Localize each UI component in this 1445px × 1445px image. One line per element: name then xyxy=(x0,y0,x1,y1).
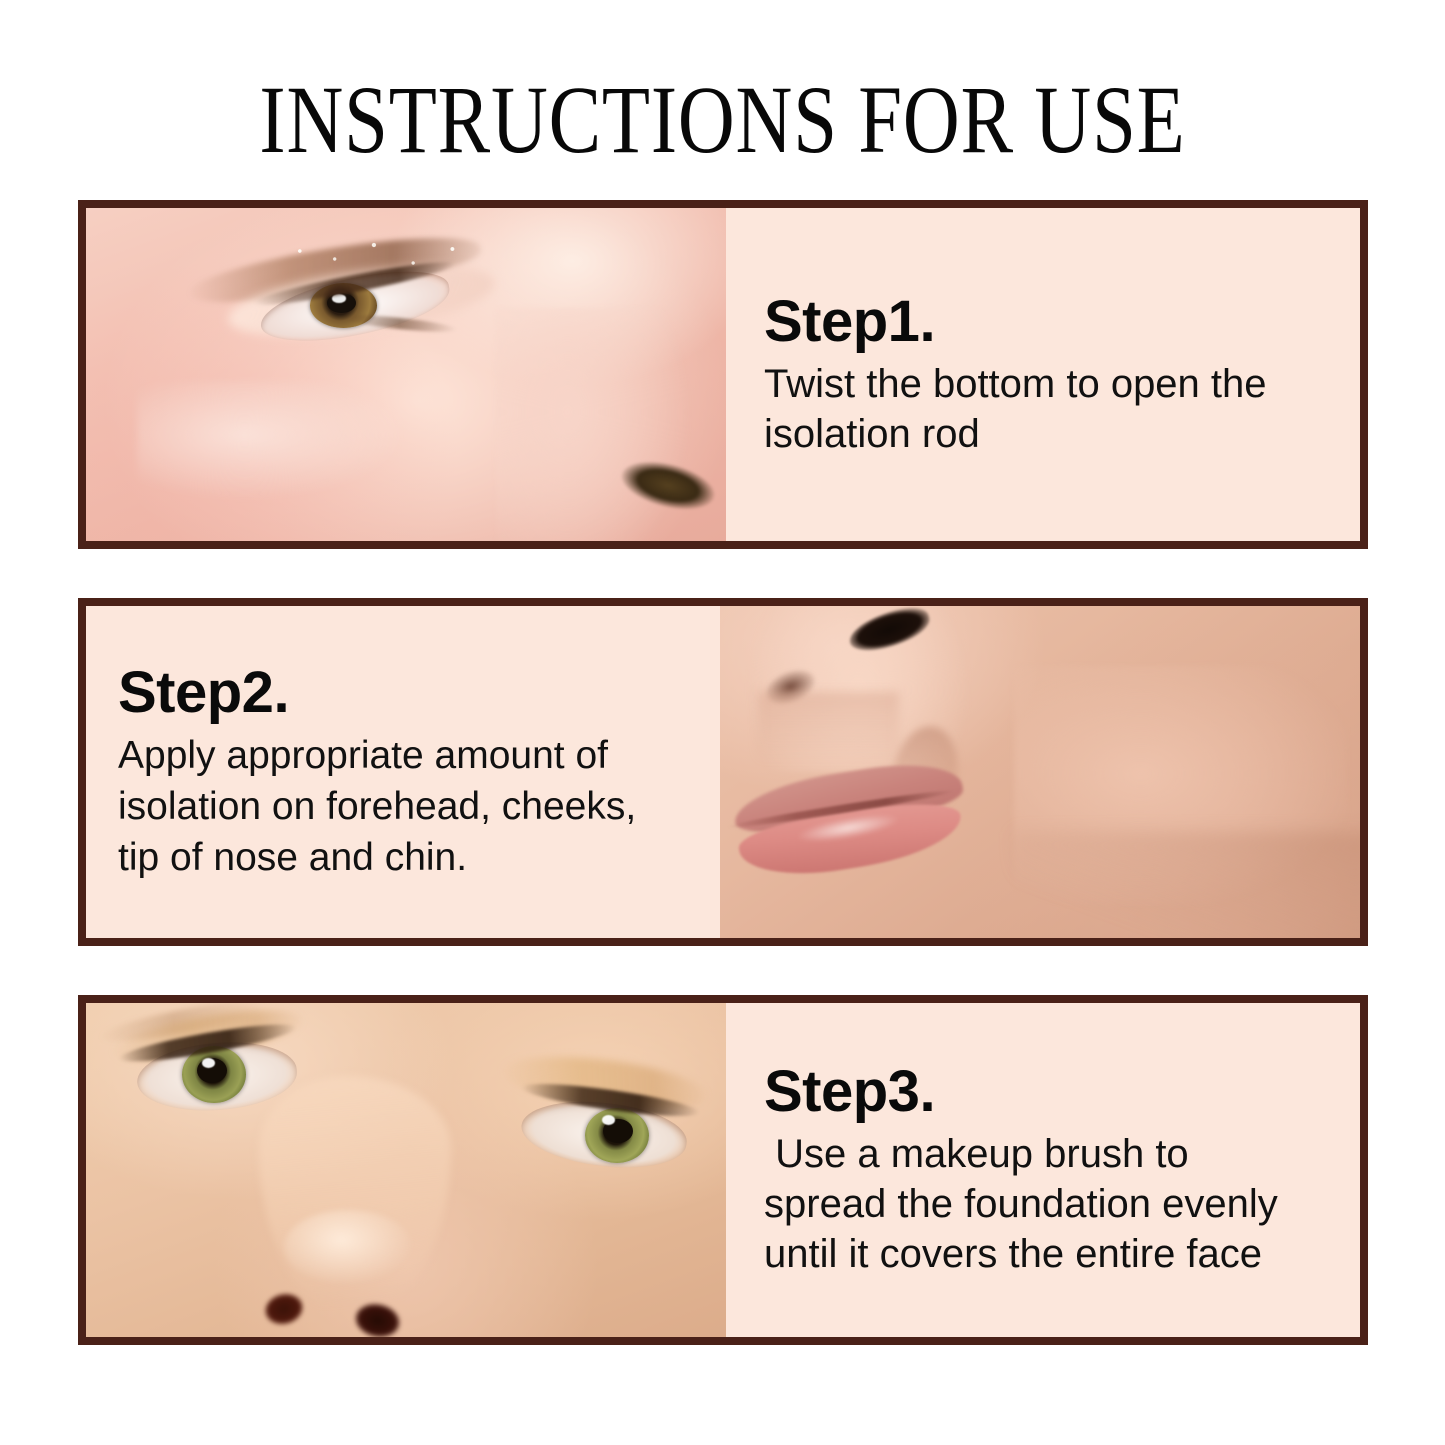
step-panel-1: Step1. Twist the bottom to open the isol… xyxy=(78,200,1368,549)
step-panel-3: Step3. Use a makeup brush to spread the … xyxy=(78,995,1368,1345)
shimmer-sparkle-shape xyxy=(278,235,496,275)
step-2-photo xyxy=(720,606,1360,938)
nose-tip-highlight-shape xyxy=(284,1210,412,1283)
step-3-text: Step3. Use a makeup brush to spread the … xyxy=(726,1003,1360,1337)
philtrum-shape xyxy=(758,692,899,778)
step-3-photo xyxy=(86,1003,726,1337)
step-3-heading: Step3. xyxy=(764,1061,1342,1123)
step-panel-2: Step2. Apply appropriate amount of isola… xyxy=(78,598,1368,946)
page-title: INSTRUCTIONS FOR USE xyxy=(130,68,1315,172)
step-2-body: Apply appropriate amount of isolation on… xyxy=(118,730,702,883)
step-1-heading: Step1. xyxy=(764,291,1342,353)
step-1-photo xyxy=(86,208,726,541)
step-1-text: Step1. Twist the bottom to open the isol… xyxy=(726,208,1360,541)
right-eye-glint-shape xyxy=(602,1115,615,1125)
step-2-heading: Step2. xyxy=(118,662,702,724)
jaw-shadow-shape xyxy=(1014,832,1360,938)
instructions-page: INSTRUCTIONS FOR USE Step1. Twist the bo… xyxy=(0,0,1445,1445)
cheek-highlight-shape xyxy=(137,381,406,501)
step-3-body: Use a makeup brush to spread the foundat… xyxy=(764,1129,1342,1279)
left-eye-glint-shape xyxy=(202,1058,215,1068)
step-1-body: Twist the bottom to open the isolation r… xyxy=(764,359,1342,459)
step-2-text: Step2. Apply appropriate amount of isola… xyxy=(86,606,720,938)
